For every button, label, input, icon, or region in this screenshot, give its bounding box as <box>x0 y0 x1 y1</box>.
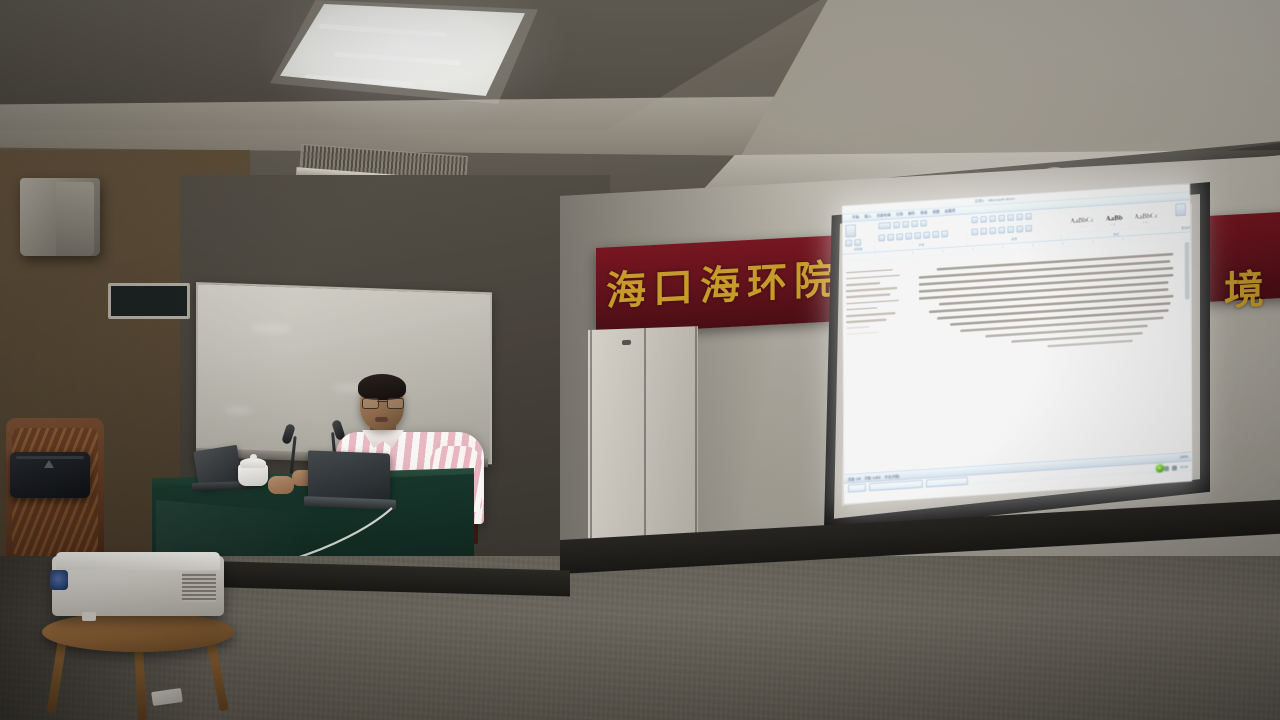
justify-button[interactable] <box>998 226 1005 233</box>
cut-button[interactable] <box>845 239 852 246</box>
presenter-laptop-screen[interactable] <box>308 450 390 503</box>
document-page[interactable] <box>908 240 1183 470</box>
word-tab-2[interactable]: 页面布局 <box>876 213 890 219</box>
numbering-button[interactable] <box>980 216 987 223</box>
stool-seat <box>42 612 234 652</box>
word-tab-5[interactable]: 审阅 <box>920 210 927 215</box>
ribbon-group-paragraph[interactable]: 段落 <box>968 209 1061 246</box>
word-tab-0[interactable]: 开始 <box>852 215 859 220</box>
line-spacing-button[interactable] <box>1007 225 1014 232</box>
multilevel-list-button[interactable] <box>989 215 996 222</box>
align-left-button[interactable] <box>971 228 978 235</box>
decrease-indent-button[interactable] <box>998 214 1005 221</box>
grow-font-button[interactable] <box>902 221 909 228</box>
word-title-text: 文档1 - Microsoft Word <box>974 195 1015 206</box>
wall-partition <box>588 326 698 560</box>
bag-strap <box>16 456 84 459</box>
style-name-1: 标题 1 <box>1110 222 1119 227</box>
subscript-button[interactable] <box>914 231 921 238</box>
conference-room-photo: 海口海环院环 境 文档1 - Microsoft Word 开始 插入 页面布局… <box>0 0 1280 720</box>
font-size-select[interactable] <box>893 221 900 228</box>
borders-button[interactable] <box>1025 224 1032 231</box>
projector-vent-icon <box>182 572 216 602</box>
font-family-select[interactable] <box>878 222 891 230</box>
bag-logo-icon <box>44 460 54 468</box>
sort-button[interactable] <box>1016 213 1023 220</box>
green-status-icon[interactable] <box>1156 464 1164 473</box>
wall-control-panel <box>108 283 190 319</box>
taskbar-item-word[interactable] <box>869 480 923 491</box>
font-color-button[interactable] <box>941 230 948 237</box>
change-styles-label: 更改样式 <box>1175 225 1192 231</box>
clear-format-button[interactable] <box>920 219 927 226</box>
style-name-0: 正文 <box>1079 224 1085 228</box>
word-tab-3[interactable]: 引用 <box>896 212 903 217</box>
tray-network-icon[interactable] <box>1164 465 1169 470</box>
status-language: 中文(中国) <box>885 473 900 479</box>
event-banner-text-right: 境 <box>1224 244 1280 334</box>
superscript-button[interactable] <box>923 231 930 238</box>
change-styles-button[interactable] <box>1175 203 1186 217</box>
style-item-0[interactable]: AaBbCc 正文 <box>1067 211 1097 234</box>
ribbon-group-font[interactable]: 字体 <box>875 215 968 252</box>
taskbar-item-explorer[interactable] <box>926 477 968 488</box>
presenter-hand-left <box>268 476 294 494</box>
word-tab-6[interactable]: 视图 <box>932 210 939 215</box>
start-button[interactable] <box>848 483 866 492</box>
paste-button[interactable] <box>845 224 856 238</box>
change-styles-group[interactable]: 更改样式 <box>1172 200 1192 233</box>
ribbon-group-clipboard[interactable]: 剪贴板 <box>842 221 875 254</box>
strikethrough-button[interactable] <box>905 232 912 239</box>
teacup-knob <box>250 454 257 460</box>
ribbon-group-label-clipboard: 剪贴板 <box>845 246 871 252</box>
tray-volume-icon[interactable] <box>1172 465 1177 470</box>
scrollbar-thumb[interactable] <box>1184 242 1189 300</box>
word-tab-1[interactable]: 插入 <box>864 214 871 219</box>
show-marks-button[interactable] <box>1025 213 1032 220</box>
underline-button[interactable] <box>896 233 903 240</box>
wall-speaker-grille <box>56 182 94 256</box>
bullets-button[interactable] <box>971 216 978 223</box>
ceiling-cornice-band <box>0 96 840 156</box>
italic-button[interactable] <box>887 233 894 240</box>
glasses-icon <box>362 398 402 407</box>
align-right-button[interactable] <box>989 227 996 234</box>
partition-latch <box>622 340 631 345</box>
align-center-button[interactable] <box>980 227 987 234</box>
word-tab-7[interactable]: 加载项 <box>945 209 956 215</box>
word-document-area[interactable] <box>842 239 1191 473</box>
style-item-1[interactable]: AaBb 标题 1 <box>1099 208 1129 231</box>
increase-indent-button[interactable] <box>1007 214 1014 221</box>
navigation-pane[interactable] <box>842 258 909 474</box>
style-name-2: 标题 2 <box>1142 220 1151 225</box>
bold-button[interactable] <box>878 234 885 241</box>
style-item-2[interactable]: AaBbCc 标题 2 <box>1131 206 1161 229</box>
copy-button[interactable] <box>854 238 861 245</box>
presenter-mouth <box>375 417 388 422</box>
projector-top-panel <box>56 552 220 570</box>
presenter-hair <box>358 374 406 400</box>
word-application-window[interactable]: 文档1 - Microsoft Word 开始 插入 页面布局 引用 邮件 审阅… <box>842 184 1192 504</box>
projector-lens-icon <box>50 570 68 590</box>
text-highlight-button[interactable] <box>932 230 939 237</box>
status-zoom-level: 100% <box>1180 455 1188 460</box>
document-scrollbar[interactable] <box>1182 239 1191 451</box>
shrink-font-button[interactable] <box>911 220 918 227</box>
projector-foot <box>82 612 96 621</box>
shading-button[interactable] <box>1016 225 1023 232</box>
taskbar-clock: 10:24 <box>1180 465 1188 470</box>
word-tab-4[interactable]: 邮件 <box>908 211 915 216</box>
status-word-count: 字数: 4,892 <box>864 474 880 480</box>
status-page-indicator: 页面: 1/8 <box>848 475 861 481</box>
